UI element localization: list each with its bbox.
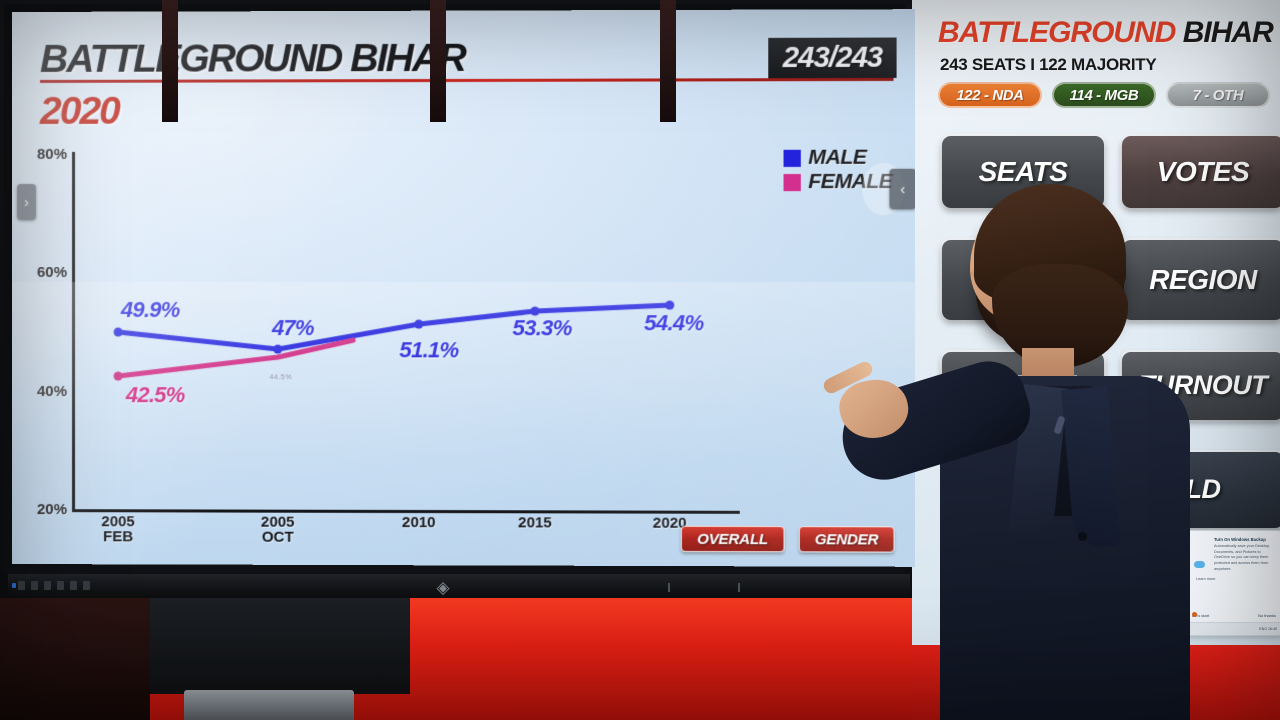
legend-label-male: MALE <box>808 146 866 170</box>
tv-button-4[interactable] <box>57 581 64 590</box>
tv-button-5[interactable] <box>70 581 77 590</box>
x-tick-2005feb-year: 2005 <box>101 514 134 529</box>
point-male-2020[interactable] <box>665 301 674 310</box>
x-tick-2015: 2015 <box>518 515 552 530</box>
desk-seam-1 <box>162 0 178 122</box>
chevron-right-icon[interactable]: › <box>17 184 36 220</box>
series-line-male <box>118 305 670 349</box>
y-tick-60: 60% <box>37 263 67 280</box>
tv-button-2[interactable] <box>31 581 38 590</box>
seat-tally-pills: 122 - NDA 114 - MGB 7 - OTH <box>938 82 1280 108</box>
presenter <box>930 180 1230 720</box>
y-tick-20: 20% <box>37 501 67 518</box>
tv-button-3[interactable] <box>44 581 51 590</box>
x-tick-2005oct-month: OCT <box>261 530 295 545</box>
desk-seam-3 <box>660 0 676 122</box>
desk-seam-2 <box>430 0 446 122</box>
tv-stand-neck <box>184 690 354 720</box>
x-tick-2005oct-year: 2005 <box>261 515 295 530</box>
y-tick-40: 40% <box>37 383 67 400</box>
x-tick-2005oct: 2005 OCT <box>261 515 295 546</box>
seats-counted-badge: 243/243 <box>768 38 896 79</box>
tv-screen: BATTLEGROUND BIHAR 2020 243/243 MALE FEM… <box>12 9 915 567</box>
tv-sensor-mark-2 <box>738 583 740 592</box>
tv-bezel: BATTLEGROUND BIHAR 2020 243/243 MALE FEM… <box>4 4 906 574</box>
overall-button[interactable]: OVERALL <box>681 526 784 553</box>
tv-display: BATTLEGROUND BIHAR 2020 243/243 MALE FEM… <box>0 0 912 600</box>
x-tick-2005feb: 2005 FEB <box>101 514 134 545</box>
view-toggle-group: OVERALL GENDER <box>681 526 895 553</box>
page-title: BATTLEGROUND BIHAR <box>40 37 465 82</box>
value-label-male-2015: 53.3% <box>513 315 572 341</box>
pill-nda: 122 - NDA <box>938 82 1042 108</box>
value-label-male-2005oct: 47% <box>272 315 314 341</box>
legend-swatch-female-icon <box>784 173 801 190</box>
page-year: 2020 <box>40 90 119 134</box>
taskbar-clock: ENG 16:45 <box>1259 627 1277 631</box>
gender-button[interactable]: GENDER <box>798 526 894 553</box>
pill-oth: 7 - OTH <box>1166 82 1270 108</box>
tv-button-6[interactable] <box>83 581 90 590</box>
x-tick-2005feb-month: FEB <box>101 530 134 545</box>
x-tick-2010-year: 2010 <box>402 515 436 530</box>
studio-scene: BATTLEGROUND BIHAR 243 SEATS I 122 MAJOR… <box>0 0 1280 720</box>
value-label-female-2005feb: 42.5% <box>126 382 185 408</box>
point-male-2010[interactable] <box>414 320 423 329</box>
right-panel-title-accent: BATTLEGROUND <box>938 16 1175 49</box>
point-female-2005feb[interactable] <box>114 372 123 381</box>
toast-secondary-button[interactable]: No thanks <box>1258 613 1276 618</box>
tv-stand-base <box>150 598 410 694</box>
tv-brand-logo-icon: ◈ <box>428 578 458 598</box>
tv-button-1[interactable] <box>18 581 25 590</box>
right-panel-subtitle: 243 SEATS I 122 MAJORITY <box>940 55 1280 75</box>
power-led-icon <box>12 583 16 588</box>
value-label-female-2005oct: 44.5% <box>270 374 292 381</box>
pill-mgb: 114 - MGB <box>1052 82 1156 108</box>
x-tick-2010: 2010 <box>402 515 436 530</box>
y-tick-80: 80% <box>37 145 67 162</box>
value-label-male-2010: 51.1% <box>399 337 458 363</box>
chevron-left-icon[interactable]: ‹ <box>889 169 915 209</box>
tv-buttons[interactable] <box>18 581 90 590</box>
value-label-male-2005feb: 49.9% <box>121 297 180 323</box>
value-label-male-2020: 54.4% <box>644 310 703 336</box>
point-male-2005feb[interactable] <box>114 328 123 337</box>
right-panel-title-rest: BIHAR <box>1175 16 1272 49</box>
legend-swatch-male-icon <box>784 149 801 166</box>
broadcast-graphic: BATTLEGROUND BIHAR 2020 243/243 MALE FEM… <box>12 9 915 567</box>
presenter-jacket-button <box>1078 532 1087 541</box>
x-tick-2015-year: 2015 <box>518 515 552 530</box>
desk-shadow-left <box>0 598 150 720</box>
turnout-line-chart: 80% 60% 40% 20% <box>72 151 758 514</box>
tv-sensor-mark-1 <box>668 583 670 592</box>
right-panel-title: BATTLEGROUND BIHAR <box>938 18 1280 48</box>
point-male-2005oct[interactable] <box>273 345 282 354</box>
